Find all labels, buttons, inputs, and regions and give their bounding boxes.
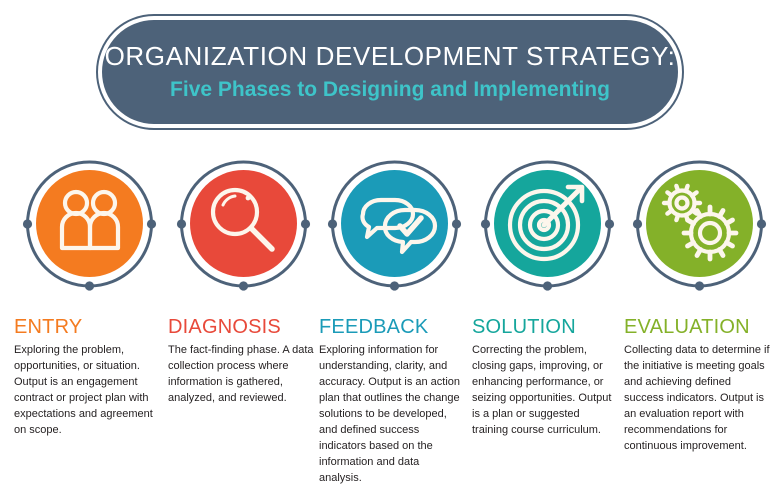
phase-heading: ENTRY	[14, 316, 165, 338]
page-subtitle: Five Phases to Designing and Implementin…	[170, 78, 610, 102]
phase-column-evaluation: EVALUATIONCollecting data to determine i…	[624, 160, 775, 455]
phase-heading: FEEDBACK	[319, 316, 470, 338]
phase-icon-circle-evaluation[interactable]	[624, 160, 775, 310]
phase-heading: SOLUTION	[472, 316, 623, 338]
phase-description: The fact-finding phase. A data collectio…	[168, 343, 314, 407]
magnifying-glass-icon	[190, 170, 297, 277]
phase-description: Exploring the problem, opportunities, or…	[14, 343, 160, 439]
phase-column-entry: ENTRYExploring the problem, opportunitie…	[14, 160, 165, 439]
phase-column-feedback: FEEDBACKExploring information for unders…	[319, 160, 470, 486]
speech-bubbles-check-icon	[341, 170, 448, 277]
phase-column-diagnosis: DIAGNOSISThe fact-finding phase. A data …	[168, 160, 319, 407]
phase-column-solution: SOLUTIONCorrecting the problem, closing …	[472, 160, 623, 439]
header-inner-pill: ORGANIZATION DEVELOPMENT STRATEGY: Five …	[102, 20, 678, 124]
target-arrow-icon	[494, 170, 601, 277]
gears-icon	[646, 170, 753, 277]
phase-icon-circle-diagnosis[interactable]	[168, 160, 319, 310]
phase-description: Collecting data to determine if the init…	[624, 343, 770, 455]
phase-icon-circle-feedback[interactable]	[319, 160, 470, 310]
phase-heading: EVALUATION	[624, 316, 775, 338]
phase-heading: DIAGNOSIS	[168, 316, 319, 338]
two-people-icon	[36, 170, 143, 277]
phase-icon-circle-solution[interactable]	[472, 160, 623, 310]
phase-icon-circle-entry[interactable]	[14, 160, 165, 310]
header-banner: ORGANIZATION DEVELOPMENT STRATEGY: Five …	[96, 14, 684, 130]
page-title: ORGANIZATION DEVELOPMENT STRATEGY:	[105, 42, 676, 71]
phase-description: Correcting the problem, closing gaps, im…	[472, 343, 618, 439]
phase-description: Exploring information for understanding,…	[319, 343, 465, 486]
